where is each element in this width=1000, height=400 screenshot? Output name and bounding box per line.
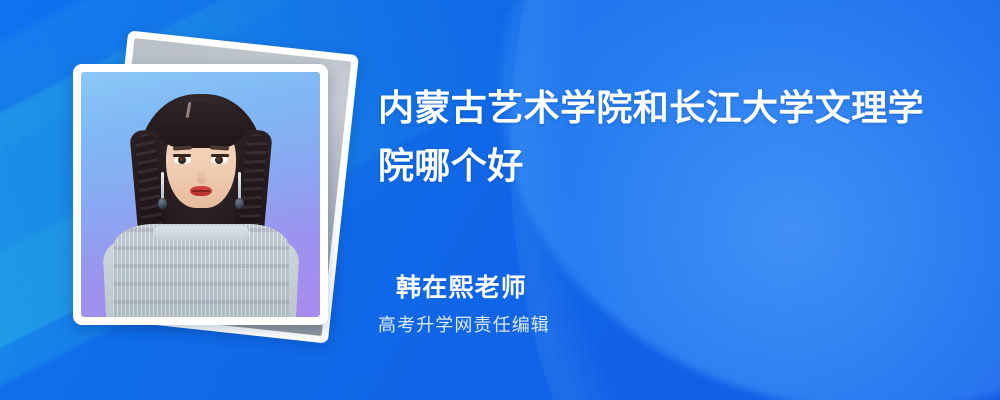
portrait-eyelash-right — [211, 154, 229, 157]
author-byline: 韩在熙老师 高考升学网责任编辑 — [396, 271, 550, 337]
portrait-earring-left — [161, 172, 164, 202]
banner-content: 内蒙古艺术学院和长江大学文理学院哪个好 韩在熙老师 高考升学网责任编辑 — [378, 0, 958, 400]
portrait-photo — [81, 72, 320, 317]
author-role: 高考升学网责任编辑 — [378, 313, 550, 337]
portrait-lips — [190, 186, 212, 196]
portrait-nose — [197, 168, 206, 184]
portrait-eye-left — [174, 156, 191, 164]
page-title: 内蒙古艺术学院和长江大学文理学院哪个好 — [378, 79, 948, 195]
author-name: 韩在熙老师 — [396, 271, 550, 305]
article-banner: 内蒙古艺术学院和长江大学文理学院哪个好 韩在熙老师 高考升学网责任编辑 — [0, 0, 1000, 400]
portrait-neckline — [153, 226, 249, 239]
portrait-hair-fringe — [157, 102, 245, 148]
portrait-earring-right — [238, 172, 241, 202]
photo-card-stack — [0, 0, 360, 400]
portrait-eyelash-left — [173, 154, 191, 157]
photo-card-front — [73, 64, 328, 325]
portrait-pupil-right — [215, 156, 223, 164]
portrait-figure — [81, 72, 320, 317]
portrait-pupil-left — [178, 156, 186, 164]
portrait-eye-right — [211, 156, 228, 164]
